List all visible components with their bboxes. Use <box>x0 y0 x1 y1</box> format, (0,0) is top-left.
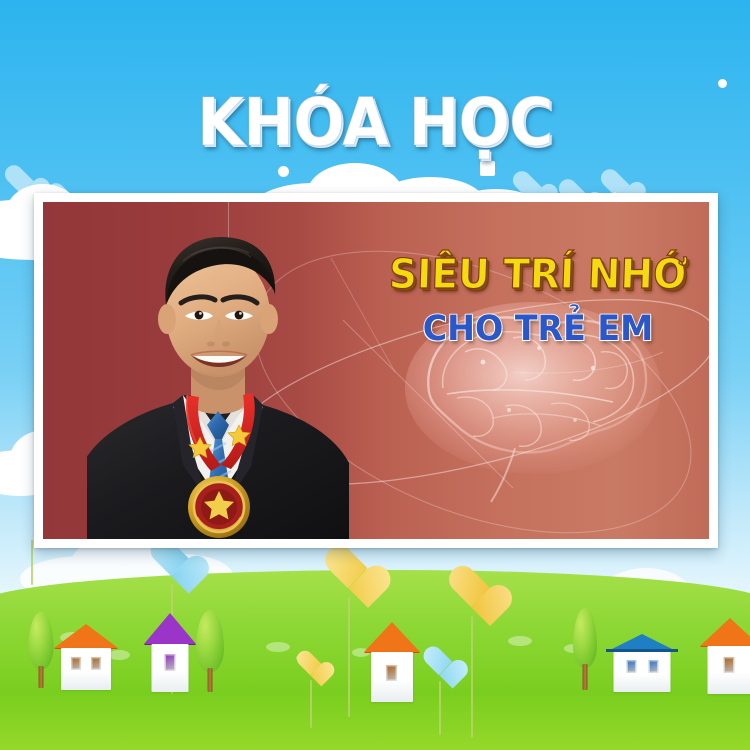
balloon-string <box>348 597 350 717</box>
house-window <box>724 657 735 673</box>
house-roof <box>700 618 750 646</box>
course-banner: SIÊU TRÍ NHỚ CHO TRẺ EM <box>43 202 709 539</box>
balloon-heart-shape <box>444 568 498 618</box>
tree-crown <box>573 608 597 668</box>
house-purple <box>144 613 196 692</box>
house-orange-left <box>54 624 118 690</box>
house-body <box>614 652 671 692</box>
tree-trunk <box>208 668 213 692</box>
house-window <box>91 657 101 670</box>
house-body <box>61 648 111 690</box>
tree-crown <box>196 610 224 672</box>
house-window <box>165 654 176 671</box>
balloon-string <box>471 616 473 738</box>
balloon-heart-shape <box>420 648 458 683</box>
tree-trunk <box>38 666 43 688</box>
page-title: KHÓA HỌC <box>30 90 720 156</box>
tree-crown <box>28 612 53 670</box>
house-body <box>371 652 413 702</box>
house-window <box>386 665 397 681</box>
balloon-heart-shape <box>294 652 326 681</box>
house-orange-mid <box>364 622 420 702</box>
tree-3 <box>573 608 597 690</box>
tree-2 <box>196 610 224 692</box>
house-window <box>649 660 659 673</box>
instructor-portrait <box>87 202 349 539</box>
house-blue <box>606 634 678 692</box>
house-orange-right <box>700 618 750 694</box>
tree-trunk <box>583 664 588 690</box>
house-window <box>627 660 637 673</box>
balloon-heart-shape <box>320 548 376 600</box>
sky-dot <box>718 79 727 88</box>
house-roof <box>364 622 420 652</box>
course-banner-card[interactable]: SIÊU TRÍ NHỚ CHO TRẺ EM <box>34 193 718 548</box>
house-roof <box>144 613 196 644</box>
banner-headline: SIÊU TRÍ NHỚ <box>381 254 696 295</box>
balloon-string <box>439 681 441 735</box>
house-body <box>152 644 189 692</box>
balloon-string <box>31 540 33 585</box>
heart-watermark-stem-1 <box>25 200 27 240</box>
house-window <box>71 657 81 670</box>
banner-subheadline: CHO TRẺ EM <box>381 312 695 347</box>
balloon-string <box>310 680 312 728</box>
poster-canvas: KHÓA HỌC <box>0 0 750 750</box>
landscape-scene <box>0 540 750 750</box>
cloud-dot-b <box>480 161 495 176</box>
tree-1 <box>28 612 53 688</box>
house-roof <box>54 624 118 648</box>
cloud-dot-a <box>278 166 289 177</box>
house-body <box>708 646 750 694</box>
